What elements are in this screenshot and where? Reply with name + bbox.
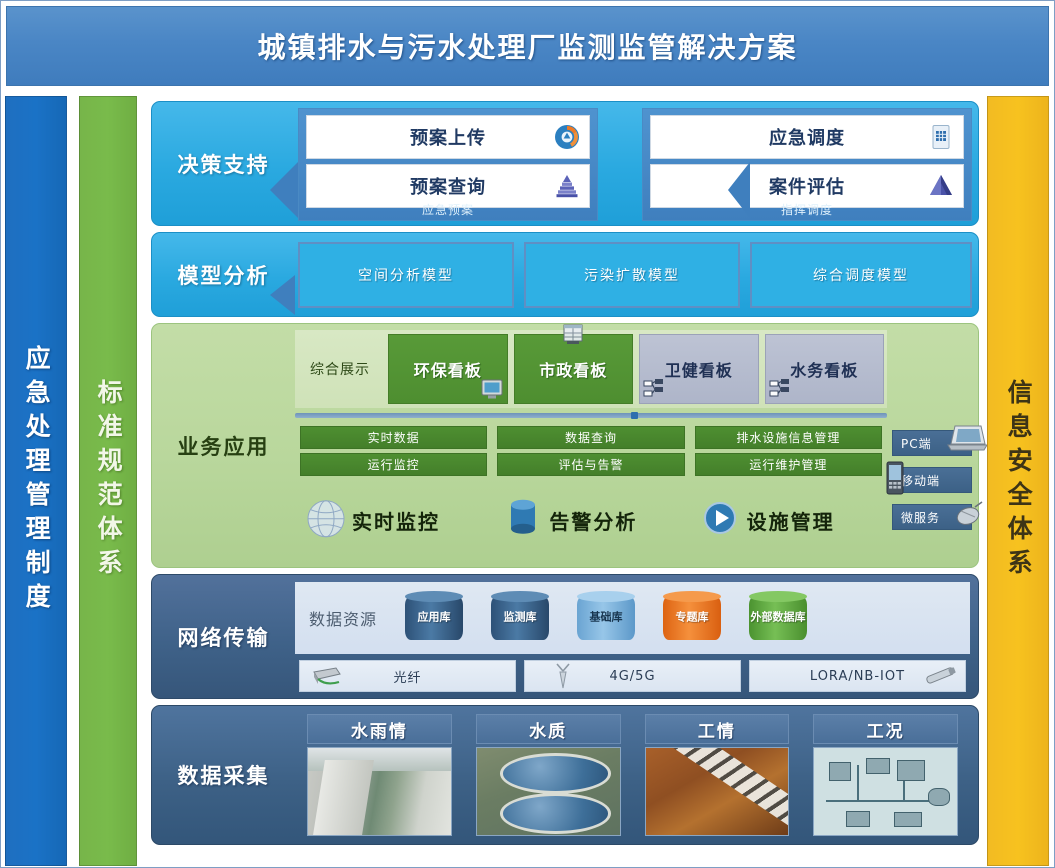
function-column-monitoring: 实时数据 运行监控 bbox=[300, 426, 487, 561]
decision-item-label: 预案上传 bbox=[410, 124, 486, 150]
decision-group-caption: 指挥调度 bbox=[643, 201, 971, 218]
function-button-label: 运行维护管理 bbox=[749, 456, 827, 473]
recycle-circle-icon bbox=[553, 123, 581, 151]
board-row: 综合展示 环保看板 市政看板 bbox=[295, 330, 887, 408]
function-button-realtime-data[interactable]: 实时数据 bbox=[300, 426, 487, 449]
mobile-phone-icon bbox=[876, 461, 906, 495]
chart-node-icon bbox=[769, 378, 791, 400]
pipeline-trench-photo bbox=[645, 747, 790, 836]
board-label: 卫健看板 bbox=[665, 357, 733, 381]
function-tile-facility-management[interactable]: 设施管理 bbox=[695, 480, 882, 561]
pillar-standards-system: 标准规范体系 bbox=[79, 96, 137, 866]
model-item-label: 空间分析模型 bbox=[358, 265, 454, 285]
decision-item-emergency-dispatch[interactable]: 应急调度 bbox=[650, 115, 964, 159]
decision-group-emergency-plan: 预案上传 预案查询 bbox=[298, 108, 598, 221]
function-button-drainage-facility-info[interactable]: 排水设施信息管理 bbox=[695, 426, 882, 449]
board-health[interactable]: 卫健看板 bbox=[639, 334, 759, 404]
decision-item-label: 案件评估 bbox=[769, 173, 845, 199]
function-button-label: 运行监控 bbox=[368, 456, 420, 473]
function-button-data-query[interactable]: 数据查询 bbox=[497, 426, 684, 449]
transport-fiber[interactable]: 光纤 bbox=[299, 660, 516, 692]
function-button-label: 实时数据 bbox=[368, 429, 420, 446]
board-divider bbox=[295, 413, 887, 418]
decision-group-command-dispatch: 应急调度 案件评估 bbox=[642, 108, 972, 221]
play-circle-icon bbox=[701, 498, 739, 536]
board-divider-dot bbox=[631, 412, 638, 419]
database-monitoring[interactable]: 监测库 bbox=[491, 591, 549, 645]
collection-header: 工况 bbox=[813, 714, 958, 744]
database-basic[interactable]: 基础库 bbox=[577, 591, 635, 645]
decision-item-plan-upload[interactable]: 预案上传 bbox=[306, 115, 590, 159]
function-columns: 实时数据 运行监控 bbox=[295, 426, 887, 561]
pillar-left1-label: 应急处理管理制度 bbox=[23, 345, 49, 617]
function-tile-label: 设施管理 bbox=[747, 506, 835, 535]
database-label: 监测库 bbox=[491, 612, 549, 625]
sensor-icon bbox=[921, 665, 961, 687]
collection-label: 水质 bbox=[529, 717, 567, 742]
transport-label: 4G/5G bbox=[609, 669, 655, 684]
board-label: 市政看板 bbox=[539, 357, 607, 381]
database-external[interactable]: 外部数据库 bbox=[749, 591, 807, 645]
model-item-pollution[interactable]: 污染扩散模型 bbox=[524, 242, 740, 308]
database-label: 外部数据库 bbox=[749, 612, 807, 625]
collection-label: 水雨情 bbox=[351, 717, 408, 742]
layer-model-analysis: 模型分析 空间分析模型 污染扩散模型 综合调度模型 bbox=[151, 232, 979, 317]
collection-header: 工情 bbox=[645, 714, 790, 744]
data-collection-label: 数据采集 bbox=[152, 706, 295, 844]
transport-row: 光纤 4G/5G LORA/NB-IOT bbox=[295, 660, 970, 692]
layer-business-application: 业务应用 综合展示 环保看板 bbox=[151, 323, 979, 568]
layer-decision-support: 决策支持 预案上传 bbox=[151, 101, 979, 226]
collection-item-rainfall[interactable]: 水雨情 bbox=[307, 714, 452, 836]
collection-label: 工况 bbox=[867, 717, 905, 742]
collection-item-works[interactable]: 工情 bbox=[645, 714, 790, 836]
board-label: 环保看板 bbox=[414, 357, 482, 381]
transport-4g5g[interactable]: 4G/5G bbox=[524, 660, 741, 692]
layer-data-collection: 数据采集 水雨情 水质 bbox=[151, 705, 979, 845]
board-label: 水务看板 bbox=[790, 357, 858, 381]
mouse-icon bbox=[943, 499, 985, 529]
function-tile-label: 实时监控 bbox=[352, 506, 440, 535]
database-label: 专题库 bbox=[663, 612, 721, 625]
page-title: 城镇排水与污水处理厂监测监管解决方案 bbox=[257, 26, 797, 66]
decision-arrow-mid bbox=[728, 162, 750, 218]
database-thematic[interactable]: 专题库 bbox=[663, 591, 721, 645]
decision-support-label: 决策支持 bbox=[152, 102, 295, 225]
business-application-label: 业务应用 bbox=[152, 324, 295, 567]
board-municipal[interactable]: 市政看板 bbox=[514, 334, 634, 404]
transport-label: LORA/NB-IOT bbox=[810, 669, 905, 684]
device-list: PC端 移动端 bbox=[892, 430, 972, 541]
layer-network-transmission: 网络传输 数据资源 应用库 监测库 基础库 bbox=[151, 574, 979, 699]
antenna-icon bbox=[553, 663, 573, 689]
function-tile-label: 告警分析 bbox=[549, 506, 637, 535]
board-water-affairs[interactable]: 水务看板 bbox=[765, 334, 885, 404]
decision-group-caption: 应急预案 bbox=[299, 201, 597, 218]
pyramid-icon bbox=[927, 172, 955, 200]
canal-photo bbox=[307, 747, 452, 836]
database-label: 基础库 bbox=[577, 612, 635, 625]
function-tile-alarm-analysis[interactable]: 告警分析 bbox=[497, 480, 684, 561]
function-button-operation-monitor[interactable]: 运行监控 bbox=[300, 453, 487, 476]
model-item-spatial[interactable]: 空间分析模型 bbox=[298, 242, 514, 308]
treatment-plant-photo bbox=[476, 747, 621, 836]
fiber-switch-icon bbox=[310, 665, 342, 687]
diagram-banner: 城镇排水与污水处理厂监测监管解决方案 bbox=[6, 6, 1049, 86]
function-button-assessment-alarm[interactable]: 评估与告警 bbox=[497, 453, 684, 476]
database-label: 应用库 bbox=[405, 612, 463, 625]
data-resource-label: 数据资源 bbox=[295, 606, 391, 630]
model-item-dispatch[interactable]: 综合调度模型 bbox=[750, 242, 972, 308]
data-resource-panel: 数据资源 应用库 监测库 基础库 bbox=[295, 582, 970, 654]
device-microservice[interactable]: 微服务 bbox=[892, 504, 972, 530]
function-button-label: 数据查询 bbox=[565, 429, 617, 446]
layer-stack: 决策支持 预案上传 bbox=[151, 96, 979, 866]
pillar-information-security: 信息安全体系 bbox=[987, 96, 1049, 866]
device-label: PC端 bbox=[893, 435, 932, 452]
database-icon bbox=[507, 497, 539, 537]
function-button-label: 排水设施信息管理 bbox=[736, 429, 840, 446]
function-button-operation-maintenance[interactable]: 运行维护管理 bbox=[695, 453, 882, 476]
decision-item-label: 预案查询 bbox=[410, 173, 486, 199]
function-column-facility: 排水设施信息管理 运行维护管理 bbox=[695, 426, 882, 561]
collection-item-conditions[interactable]: 工况 bbox=[813, 714, 958, 836]
function-column-alarm: 数据查询 评估与告警 bbox=[497, 426, 684, 561]
model-item-label: 综合调度模型 bbox=[813, 265, 909, 285]
transport-label: 光纤 bbox=[393, 667, 421, 686]
pillar-emergency-management: 应急处理管理制度 bbox=[5, 96, 67, 866]
collection-header: 水质 bbox=[476, 714, 621, 744]
pillar-right-label: 信息安全体系 bbox=[1005, 379, 1031, 583]
device-mobile[interactable]: 移动端 bbox=[892, 467, 972, 493]
chart-node-icon bbox=[643, 378, 665, 400]
decision-item-label: 应急调度 bbox=[769, 124, 845, 150]
board-environment[interactable]: 环保看板 bbox=[388, 334, 508, 404]
transport-lora-nbiot[interactable]: LORA/NB-IOT bbox=[749, 660, 966, 692]
diagram-frame: 城镇排水与污水处理厂监测监管解决方案 应急处理管理制度 标准规范体系 信息安全体… bbox=[0, 0, 1055, 868]
model-analysis-label: 模型分析 bbox=[152, 233, 295, 316]
pyramid-step-icon bbox=[553, 172, 581, 200]
pillar-left2-label: 标准规范体系 bbox=[95, 379, 121, 583]
collection-item-water-quality[interactable]: 水质 bbox=[476, 714, 621, 836]
model-item-label: 污染扩散模型 bbox=[584, 265, 680, 285]
globe-icon bbox=[304, 496, 348, 540]
grid-table-icon bbox=[927, 123, 955, 151]
laptop-icon bbox=[939, 423, 987, 453]
window-icon bbox=[561, 323, 583, 345]
collection-label: 工情 bbox=[698, 717, 736, 742]
process-schematic-photo bbox=[813, 747, 958, 836]
collection-header: 水雨情 bbox=[307, 714, 452, 744]
network-transmission-label: 网络传输 bbox=[152, 575, 295, 698]
device-pc[interactable]: PC端 bbox=[892, 430, 972, 456]
function-tile-realtime-monitoring[interactable]: 实时监控 bbox=[300, 480, 487, 561]
database-application[interactable]: 应用库 bbox=[405, 591, 463, 645]
monitor-icon bbox=[480, 377, 502, 399]
board-row-label: 综合展示 bbox=[295, 330, 385, 408]
device-label: 微服务 bbox=[893, 509, 940, 526]
function-button-label: 评估与告警 bbox=[558, 456, 623, 473]
